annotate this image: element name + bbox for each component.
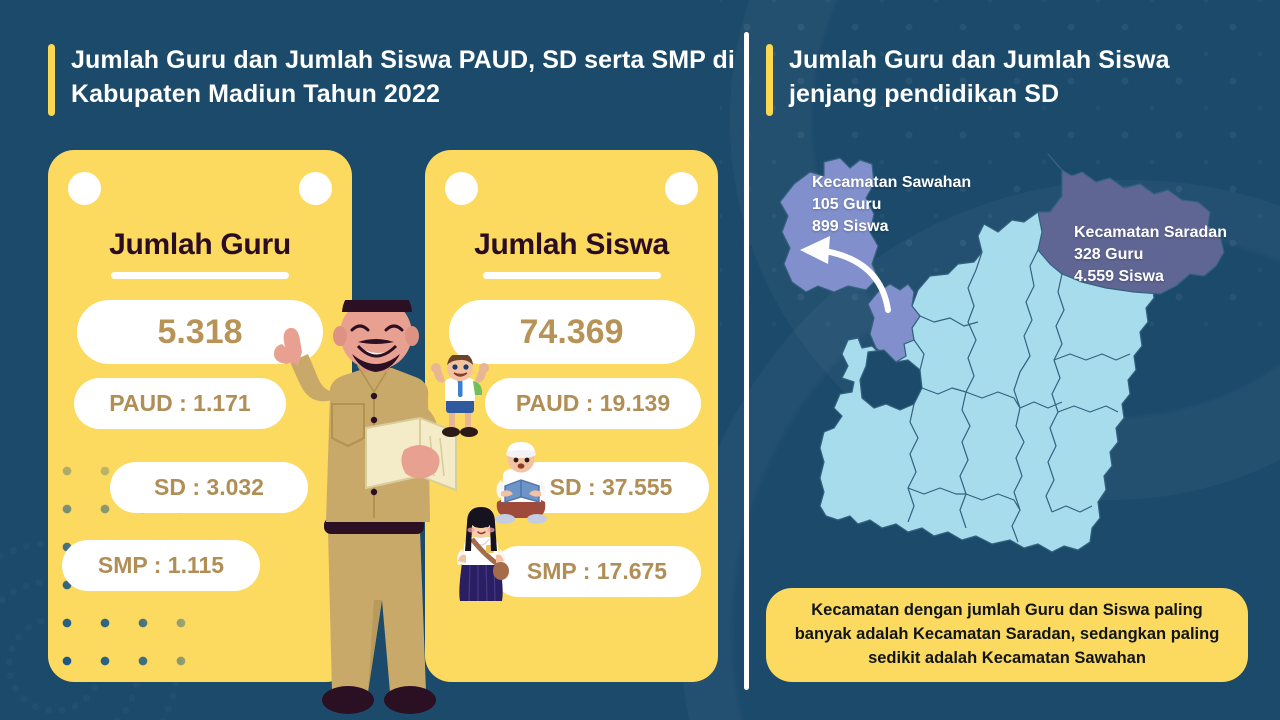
left-panel-title: Jumlah Guru dan Jumlah Siswa PAUD, SD se… — [48, 44, 738, 116]
summary-caption-box: Kecamatan dengan jumlah Guru dan Siswa p… — [766, 588, 1248, 682]
right-title-text: Jumlah Guru dan Jumlah Siswa jenjang pen… — [789, 44, 1236, 111]
siswa-smp-pill: SMP : 17.675 — [493, 546, 701, 597]
map-label-saradan: Kecamatan Saradan 328 Guru 4.559 Siswa — [1074, 222, 1227, 288]
siswa-paud-pill: PAUD : 19.139 — [485, 378, 701, 429]
saradan-teachers: 328 Guru — [1074, 244, 1227, 266]
card-punch-hole-left — [445, 172, 478, 205]
card-title-underline — [111, 272, 289, 279]
left-title-text: Jumlah Guru dan Jumlah Siswa PAUD, SD se… — [71, 44, 738, 111]
total-siswa-value: 74.369 — [449, 300, 695, 364]
card-punch-hole-left — [68, 172, 101, 205]
total-guru-value: 5.318 — [77, 300, 323, 364]
card-title-guru: Jumlah Guru — [48, 228, 352, 262]
title-accent-bar — [766, 44, 773, 116]
saradan-name: Kecamatan Saradan — [1074, 222, 1227, 244]
right-panel-title: Jumlah Guru dan Jumlah Siswa jenjang pen… — [766, 44, 1236, 116]
card-punch-hole-right — [299, 172, 332, 205]
infographic-canvas: Jumlah Guru dan Jumlah Siswa PAUD, SD se… — [0, 0, 1280, 720]
sawahan-students: 899 Siswa — [812, 216, 971, 238]
guru-smp-pill: SMP : 1.115 — [62, 540, 260, 591]
card-title-underline — [483, 272, 661, 279]
panel-divider — [744, 32, 749, 690]
siswa-sd-pill: SD : 37.555 — [513, 462, 709, 513]
guru-paud-pill: PAUD : 1.171 — [74, 378, 286, 429]
summary-caption-text: Kecamatan dengan jumlah Guru dan Siswa p… — [782, 599, 1232, 671]
sawahan-teachers: 105 Guru — [812, 194, 971, 216]
card-title-siswa: Jumlah Siswa — [425, 228, 718, 262]
stat-card-siswa: Jumlah Siswa 74.369 PAUD : 19.139 SD : 3… — [425, 150, 718, 682]
card-punch-hole-right — [665, 172, 698, 205]
sawahan-name: Kecamatan Sawahan — [812, 172, 971, 194]
guru-sd-pill: SD : 3.032 — [110, 462, 308, 513]
map-label-sawahan: Kecamatan Sawahan 105 Guru 899 Siswa — [812, 172, 971, 238]
saradan-students: 4.559 Siswa — [1074, 266, 1227, 288]
stat-card-guru: Jumlah Guru 5.318 PAUD : 1.171 SD : 3.03… — [48, 150, 352, 682]
title-accent-bar — [48, 44, 55, 116]
